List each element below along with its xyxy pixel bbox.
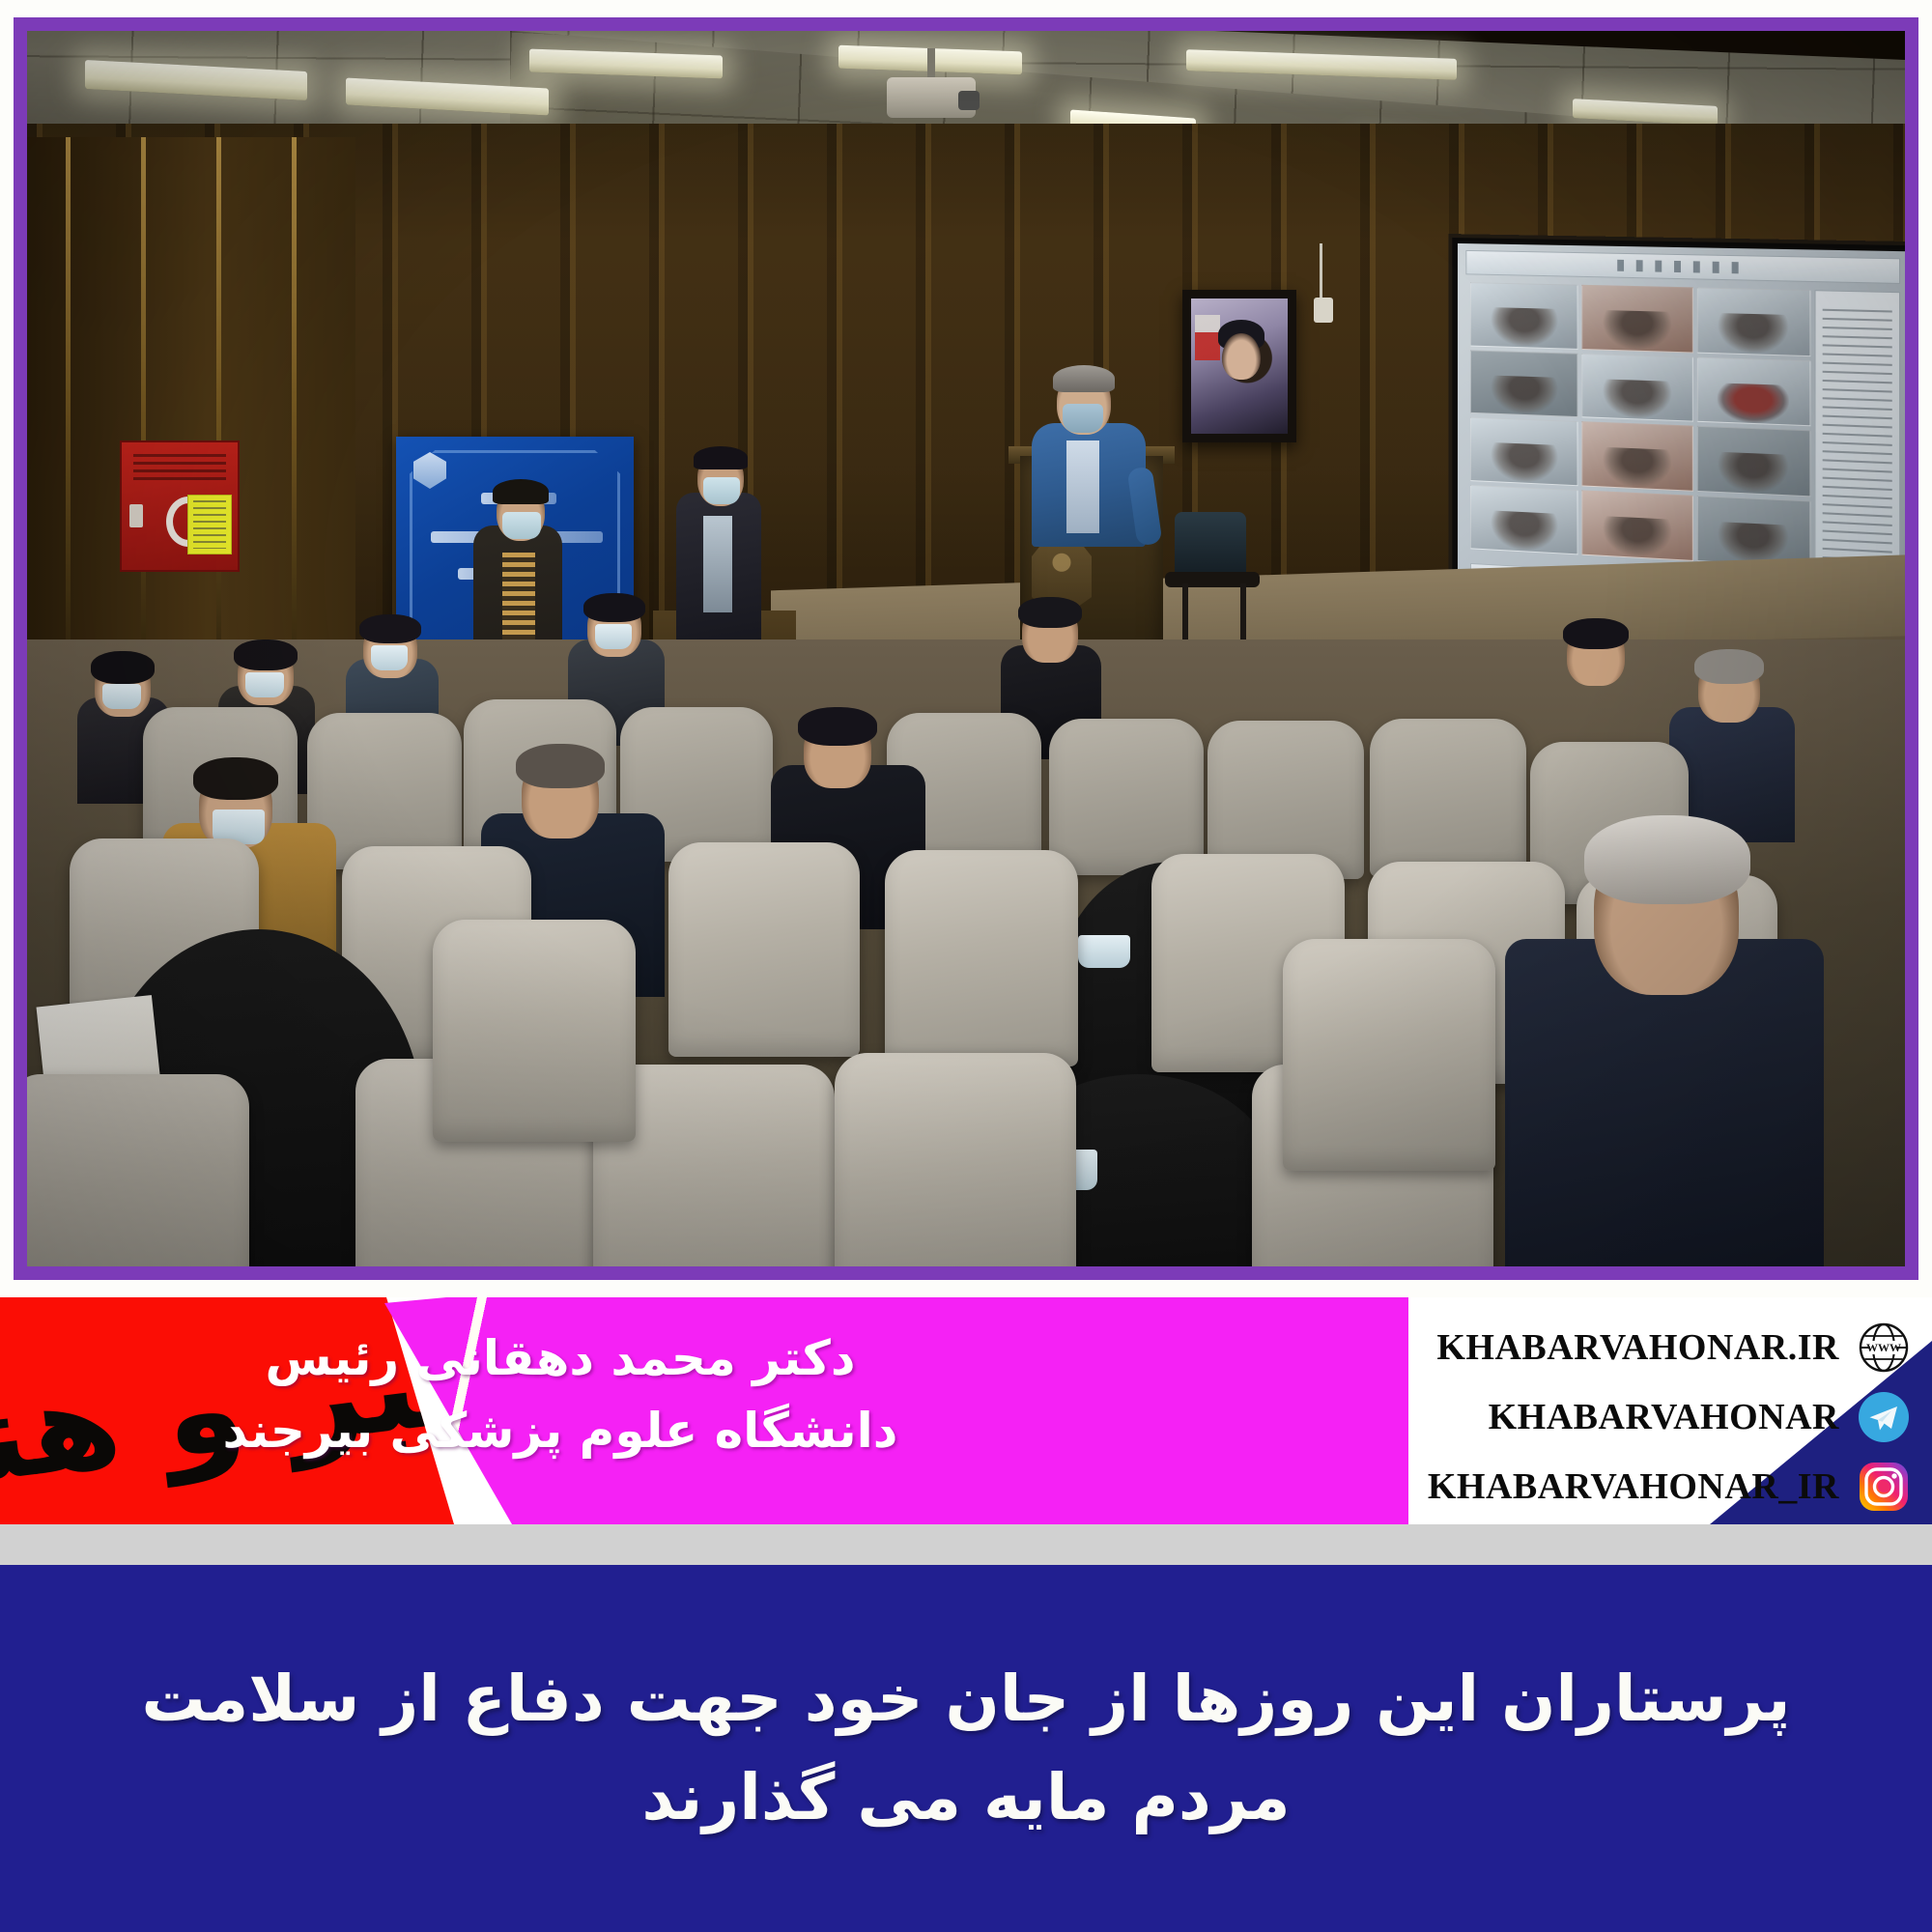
sensor-wire [1320, 243, 1322, 299]
vc-participant-tile [1470, 350, 1578, 417]
vc-participant-tile [1582, 354, 1693, 422]
attendee-face-mask [595, 624, 632, 649]
social-link-website[interactable]: KHABARVAHONAR.IR WWW [1436, 1321, 1911, 1375]
attendee-hair [91, 651, 155, 684]
fire-cabinet-label [187, 495, 232, 554]
social-link-telegram[interactable]: KHABARVAHONAR [1489, 1390, 1911, 1444]
auditorium-seat [885, 850, 1078, 1066]
attendee-face-mask [245, 672, 284, 697]
auditorium-seat [433, 920, 636, 1142]
separator-band [0, 1524, 1932, 1565]
auditorium-seat [1049, 719, 1204, 875]
vc-toolbar [1466, 250, 1900, 284]
auditorium-seat [835, 1053, 1076, 1266]
attendee-hair [1584, 815, 1750, 904]
svg-text:WWW: WWW [1866, 1341, 1901, 1354]
caption-text: دکتر محمد دهقانی رئیس دانشگاه علوم پزشکی… [145, 1322, 976, 1467]
attendee-hair [798, 707, 877, 746]
projector-lens [958, 91, 980, 110]
headline-line-2: مردم مایه می گذارند [116, 1748, 1816, 1847]
vc-participant-tile [1582, 285, 1693, 353]
vc-participant-tile [1696, 287, 1810, 355]
attendee-hair [583, 593, 645, 622]
projector-mount [927, 48, 935, 81]
standing-attendee-hair [493, 479, 549, 504]
auditorium-seat [1370, 719, 1526, 877]
vc-participant-grid [1470, 282, 1810, 567]
auditorium-seat [668, 842, 860, 1057]
attendee-face-mask [371, 645, 408, 670]
loudspeaker [1175, 512, 1246, 580]
attendee-hair [193, 757, 278, 800]
attendee-hair [1694, 649, 1764, 684]
instagram-icon [1857, 1460, 1911, 1514]
auditorium-seat [1283, 939, 1495, 1171]
attendee-face-mask [102, 684, 141, 709]
standing-attendee-face-mask [502, 512, 541, 539]
speaker-shirt [1066, 440, 1099, 533]
vc-participant-tile [1696, 356, 1810, 426]
caption-line-2: دانشگاه علوم پزشکی بیرجند [145, 1395, 976, 1467]
vc-participant-tile [1582, 490, 1693, 560]
attendee-hair [516, 744, 605, 788]
vc-participant-tile [1470, 282, 1578, 349]
brand-band: خبر و هنر دکتر محمد دهقانی رئیس دانشگاه … [0, 1297, 1932, 1524]
speaker-hair [1053, 365, 1115, 392]
vc-participant-tile [1582, 421, 1693, 491]
photo-frame [14, 17, 1918, 1280]
telegram-label: KHABARVAHONAR [1489, 1396, 1839, 1438]
social-links-block: KHABARVAHONAR.IR WWW KHABARVAHONAR [1391, 1297, 1932, 1524]
auditorium-seat [27, 1074, 249, 1266]
attendee-hair [234, 639, 298, 670]
wall-sensor [1314, 298, 1333, 323]
attendee-hair [359, 614, 421, 643]
attendee-hair [1018, 597, 1082, 628]
globe-www-icon: WWW [1857, 1321, 1911, 1375]
attendee-hair [1563, 618, 1629, 649]
vc-participant-tile [1470, 485, 1578, 554]
caption-line-1: دکتر محمد دهقانی رئیس [145, 1322, 976, 1395]
framed-leader-portrait [1182, 290, 1296, 442]
social-link-instagram[interactable]: KHABARVAHONAR_IR [1428, 1460, 1911, 1514]
vc-participant-tile [1696, 426, 1810, 497]
website-label: KHABARVAHONAR.IR [1436, 1326, 1839, 1369]
headline-line-1: پرستاران این روزها از جان خود جهت دفاع ا… [116, 1650, 1816, 1748]
standing-attendee-hair [694, 446, 748, 469]
fire-hose-cabinet [120, 440, 240, 572]
vc-participant-tile [1470, 417, 1578, 486]
headline-band: پرستاران این روزها از جان خود جهت دفاع ا… [0, 1565, 1932, 1932]
telegram-icon [1857, 1390, 1911, 1444]
headline-text: پرستاران این روزها از جان خود جهت دفاع ا… [116, 1650, 1816, 1848]
standing-attendee-shirt [703, 516, 732, 612]
speaker-face-mask [1063, 404, 1103, 433]
vc-participant-list [1815, 290, 1900, 586]
standing-attendee-face-mask [703, 477, 740, 504]
event-photograph [27, 31, 1905, 1266]
instagram-label: KHABARVAHONAR_IR [1428, 1465, 1839, 1508]
vc-participant-tile [1696, 496, 1810, 567]
news-card: خبر و هنر دکتر محمد دهقانی رئیس دانشگاه … [0, 0, 1932, 1932]
attendee-face-mask [1078, 935, 1130, 968]
